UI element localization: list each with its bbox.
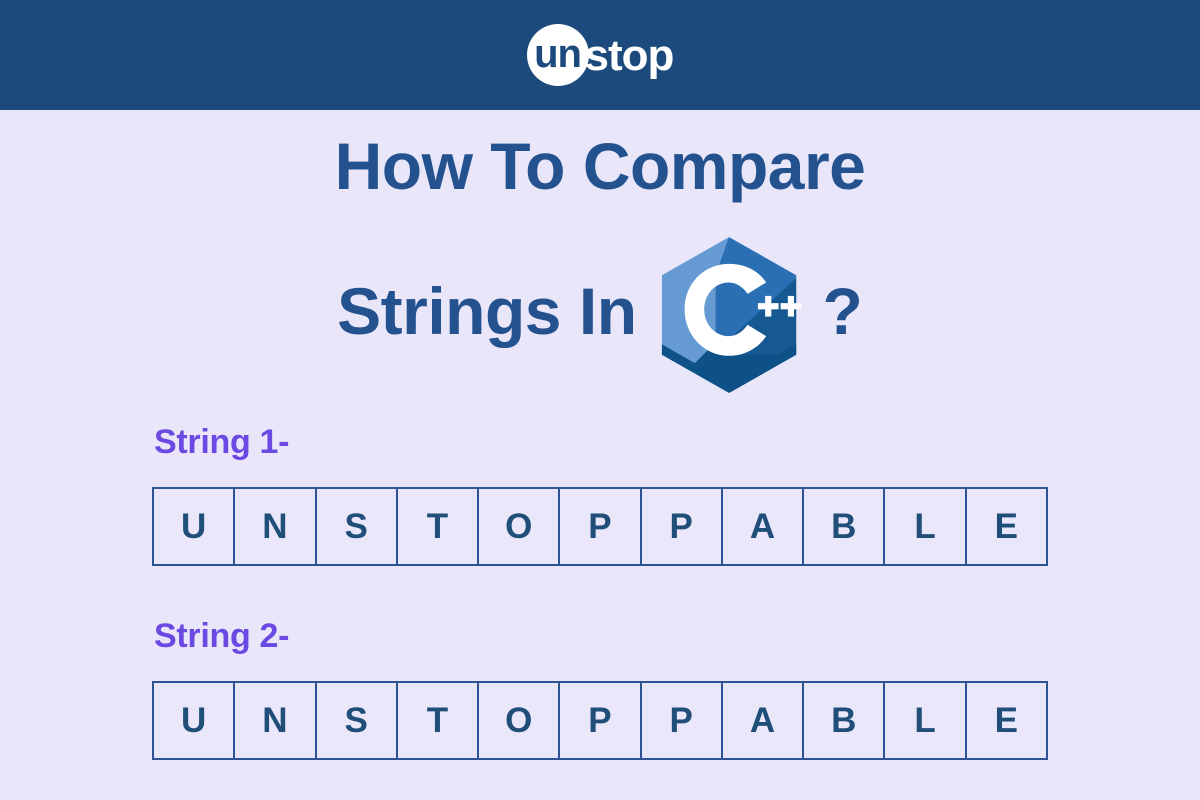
string-2-label: String 2- bbox=[154, 619, 289, 653]
page-title-line-1: How To Compare bbox=[0, 133, 1200, 199]
string-2-cell-7: A bbox=[723, 683, 804, 758]
string-2-cell-4: O bbox=[479, 683, 560, 758]
unstop-logo: un stop bbox=[527, 24, 674, 86]
string-2-cell-0: U bbox=[154, 683, 235, 758]
string-1-grid: U N S T O P P A B L E bbox=[152, 487, 1048, 566]
string-1-cell-8: B bbox=[804, 489, 885, 564]
string-1-cell-7: A bbox=[723, 489, 804, 564]
logo-circle-badge: un bbox=[527, 24, 589, 86]
page-title-line-2: Strings In bbox=[337, 278, 636, 344]
string-1-cell-2: S bbox=[317, 489, 398, 564]
string-2-grid: U N S T O P P A B L E bbox=[152, 681, 1048, 760]
string-2-cell-6: P bbox=[642, 683, 723, 758]
string-2-cell-8: B bbox=[804, 683, 885, 758]
string-1-cell-10: E bbox=[967, 489, 1046, 564]
string-2-cell-1: N bbox=[235, 683, 316, 758]
cpp-logo-icon bbox=[655, 235, 803, 395]
string-1-cell-6: P bbox=[642, 489, 723, 564]
string-1-cell-0: U bbox=[154, 489, 235, 564]
page-title-question-mark: ? bbox=[823, 278, 863, 344]
header-bar: un stop bbox=[0, 0, 1200, 110]
infographic-page: un stop How To Compare Strings In bbox=[0, 0, 1200, 800]
string-2-cell-5: P bbox=[560, 683, 641, 758]
string-2-cell-9: L bbox=[885, 683, 966, 758]
page-title-line-2-row: Strings In ? bbox=[0, 260, 1200, 370]
string-1-cell-3: T bbox=[398, 489, 479, 564]
string-1-label: String 1- bbox=[154, 425, 289, 459]
string-1-cell-1: N bbox=[235, 489, 316, 564]
logo-text-un: un bbox=[534, 34, 581, 74]
string-2-cell-2: S bbox=[317, 683, 398, 758]
string-1-cell-9: L bbox=[885, 489, 966, 564]
logo-text-stop: stop bbox=[585, 34, 674, 78]
string-1-cell-5: P bbox=[560, 489, 641, 564]
string-2-cell-10: E bbox=[967, 683, 1046, 758]
string-1-cell-4: O bbox=[479, 489, 560, 564]
string-2-cell-3: T bbox=[398, 683, 479, 758]
